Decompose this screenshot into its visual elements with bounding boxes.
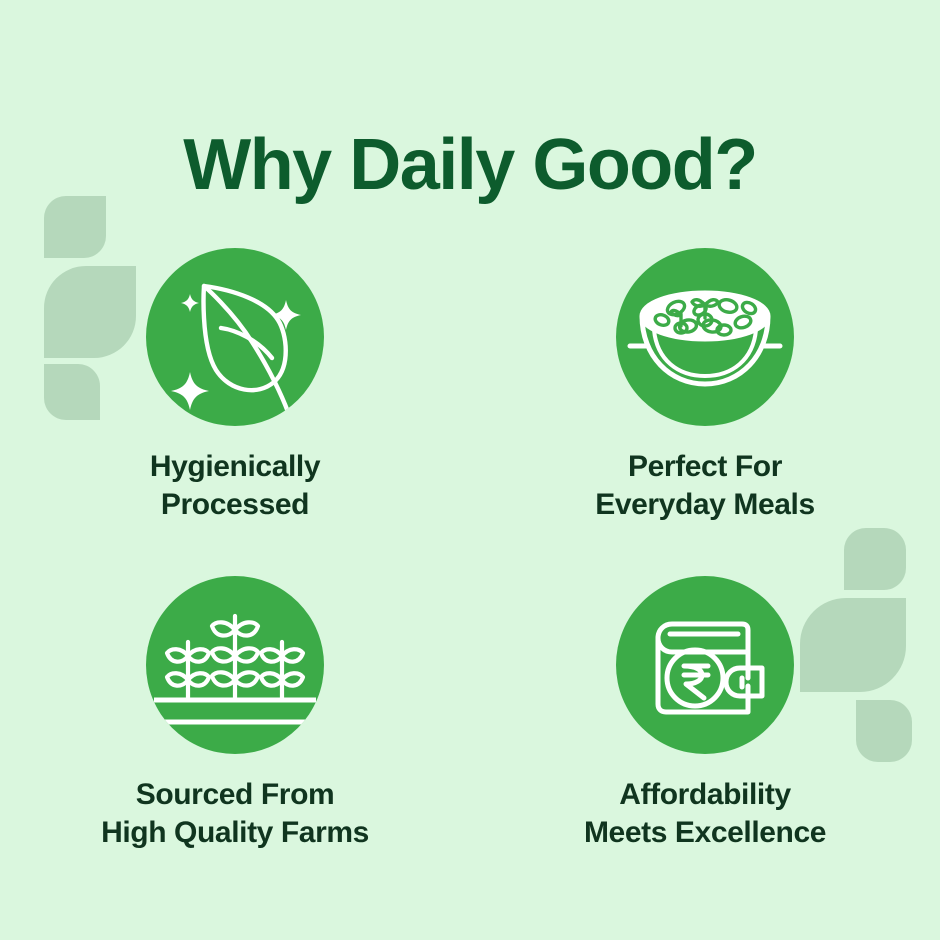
sparkling-leaf-icon	[146, 248, 324, 426]
feature-label: Affordability Meets Excellence	[584, 776, 826, 852]
feature-item-affordability: Affordability Meets Excellence	[470, 576, 940, 904]
feature-icon-badge	[146, 576, 324, 754]
crop-field-icon	[146, 576, 324, 754]
feature-item-high-quality-farms: Sourced From High Quality Farms	[0, 576, 470, 904]
feature-icon-badge	[146, 248, 324, 426]
feature-item-hygienically-processed: Hygienically Processed	[0, 248, 470, 576]
feature-grid: Hygienically Processed	[0, 248, 940, 904]
page-title: Why Daily Good?	[0, 122, 940, 208]
feature-icon-badge	[616, 248, 794, 426]
soup-bowl-icon	[616, 248, 794, 426]
feature-item-everyday-meals: Perfect For Everyday Meals	[470, 248, 940, 576]
feature-label: Hygienically Processed	[150, 448, 320, 524]
feature-label: Sourced From High Quality Farms	[101, 776, 369, 852]
why-daily-good-poster: Why Daily Good? Hygien	[0, 0, 940, 940]
rupee-wallet-icon	[616, 576, 794, 754]
feature-label: Perfect For Everyday Meals	[595, 448, 815, 524]
feature-icon-badge	[616, 576, 794, 754]
